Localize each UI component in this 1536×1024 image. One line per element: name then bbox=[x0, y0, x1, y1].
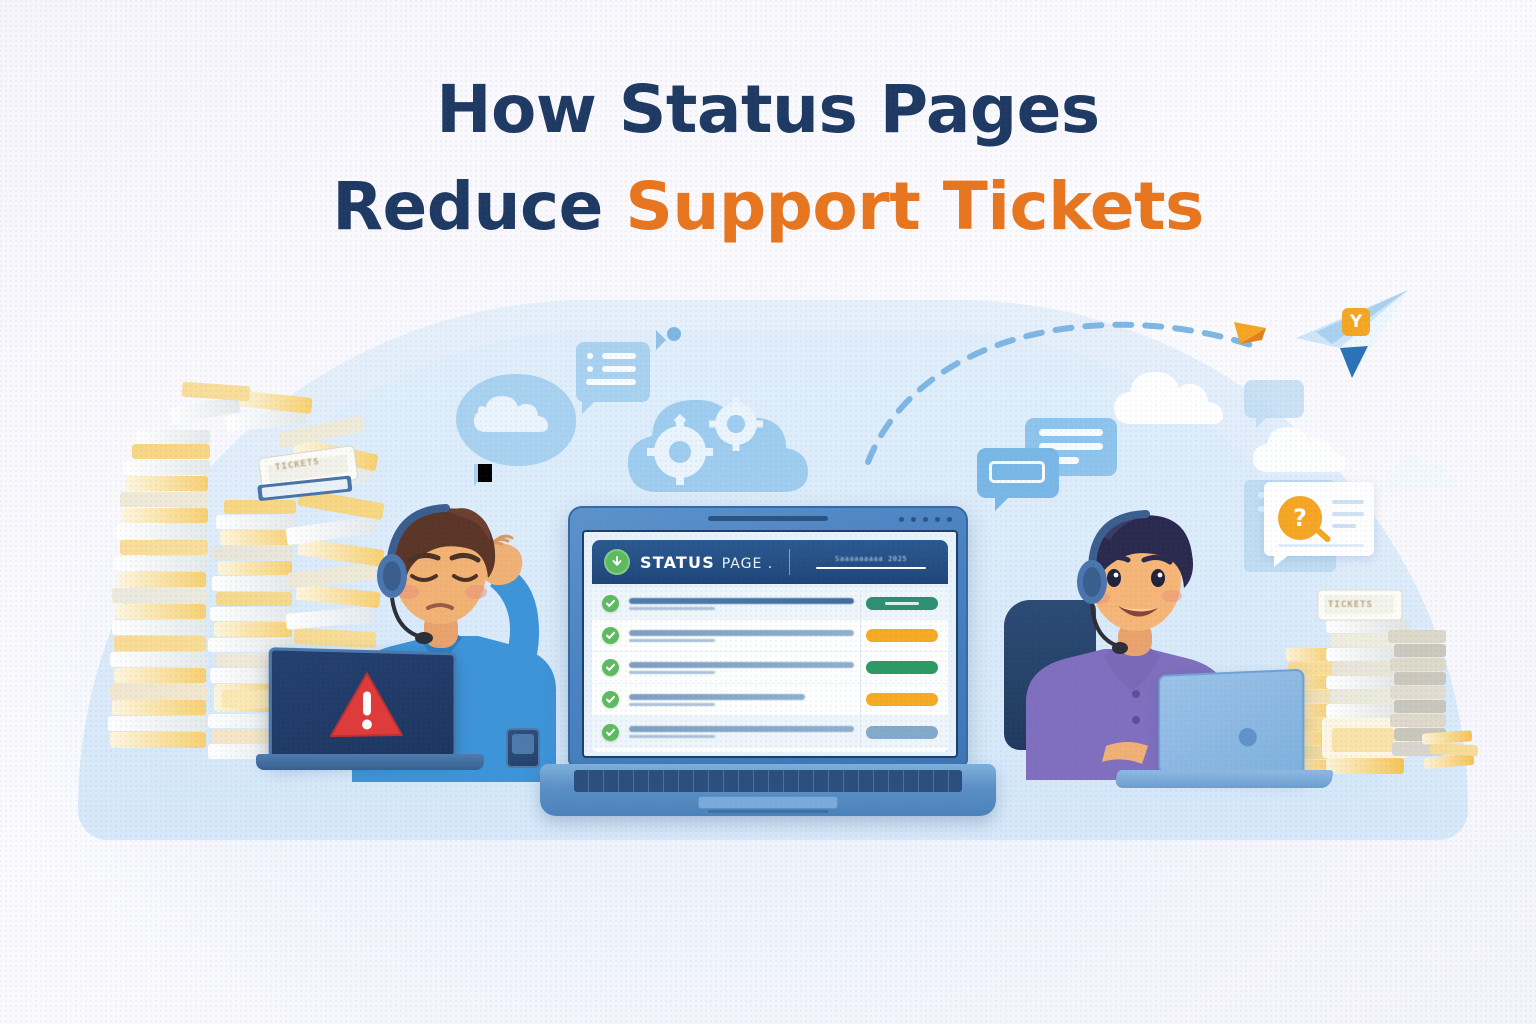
check-circle-icon bbox=[602, 659, 619, 676]
laptop-trackpad[interactable] bbox=[698, 796, 838, 809]
page-title: How Status Pages Reduce Support Tickets bbox=[0, 76, 1536, 241]
illustration-canvas: How Status Pages Reduce Support Tickets … bbox=[0, 0, 1536, 1024]
left-agent-laptop bbox=[272, 650, 472, 780]
table-row[interactable] bbox=[592, 684, 948, 716]
status-page-brand: STATUS PAGE . bbox=[640, 553, 773, 572]
left-laptop-base bbox=[256, 754, 484, 770]
ticket-pile-right: TICKETS bbox=[1282, 582, 1482, 778]
status-badge bbox=[866, 661, 938, 674]
right-agent-laptop bbox=[1152, 672, 1302, 776]
left-laptop-lid bbox=[269, 647, 457, 763]
cloud-icon bbox=[1382, 452, 1466, 499]
table-row[interactable] bbox=[592, 716, 948, 748]
right-laptop-base[interactable] bbox=[1114, 770, 1334, 788]
status-column-divider bbox=[860, 592, 861, 748]
row-label-placeholder bbox=[629, 694, 854, 706]
table-row[interactable] bbox=[592, 588, 948, 620]
laptop-front-notch bbox=[708, 810, 828, 813]
download-arrow-icon bbox=[604, 549, 630, 575]
laptop-screen: STATUS PAGE . Saaaaaaaaa 2025 bbox=[582, 530, 958, 758]
status-badge bbox=[866, 597, 938, 610]
title-line-2-dark: Reduce bbox=[332, 168, 625, 245]
cloud-in-speech-bubble-icon bbox=[456, 374, 576, 466]
title-line-1: How Status Pages bbox=[0, 76, 1536, 143]
orange-arrow-icon bbox=[1232, 310, 1280, 353]
header-divider bbox=[789, 549, 790, 575]
status-page-brand-strong: STATUS bbox=[640, 553, 715, 572]
faq-card: ? bbox=[1264, 482, 1374, 556]
status-page-rows bbox=[592, 588, 948, 752]
status-page-header: STATUS PAGE . Saaaaaaaaa 2025 bbox=[592, 540, 948, 584]
desk-device-icon bbox=[506, 728, 540, 768]
header-meta-text: Saaaaaaaaa 2025 bbox=[835, 555, 907, 563]
check-circle-icon bbox=[602, 691, 619, 708]
status-badge bbox=[866, 726, 938, 739]
laptop-bezel-dots bbox=[899, 517, 952, 522]
status-page-brand-light: PAGE . bbox=[722, 556, 773, 572]
warning-triangle-icon bbox=[328, 669, 405, 746]
title-line-2-accent: Support Tickets bbox=[625, 168, 1203, 245]
header-meta-underline bbox=[816, 567, 926, 569]
dashed-arc-path bbox=[860, 290, 1280, 470]
check-circle-icon bbox=[602, 627, 619, 644]
laptop-lid: STATUS PAGE . Saaaaaaaaa 2025 bbox=[568, 506, 968, 766]
laptop-camera-bar bbox=[708, 516, 828, 521]
status-page-laptop: STATUS PAGE . Saaaaaaaaa 2025 bbox=[568, 506, 968, 818]
table-row[interactable] bbox=[592, 652, 948, 684]
laptop-logo-dot bbox=[1238, 728, 1256, 747]
status-badge bbox=[866, 629, 938, 642]
check-circle-icon bbox=[602, 595, 619, 612]
laptop-keyboard[interactable] bbox=[574, 770, 962, 792]
row-label-placeholder bbox=[629, 598, 854, 610]
check-circle-icon bbox=[602, 724, 619, 741]
row-label-placeholder bbox=[629, 726, 854, 738]
ticket-pile-right-label: TICKETS bbox=[1328, 600, 1373, 610]
magnifier-handle-icon bbox=[1314, 527, 1331, 544]
title-line-2: Reduce Support Tickets bbox=[0, 173, 1536, 240]
question-magnifier-icon: ? bbox=[1278, 496, 1322, 540]
sparkle-icon bbox=[648, 326, 688, 367]
plane-badge-icon: Y bbox=[1342, 308, 1370, 336]
table-row[interactable] bbox=[592, 620, 948, 652]
status-page-header-meta: Saaaaaaaaa 2025 bbox=[806, 555, 936, 569]
row-label-placeholder bbox=[629, 630, 854, 642]
row-label-placeholder bbox=[629, 662, 854, 674]
right-laptop-lid bbox=[1158, 669, 1304, 780]
laptop-base bbox=[540, 764, 996, 816]
gears-in-cloud-icon bbox=[608, 372, 818, 517]
status-badge bbox=[866, 693, 938, 706]
paper-plane-icon: Y bbox=[1280, 286, 1412, 387]
